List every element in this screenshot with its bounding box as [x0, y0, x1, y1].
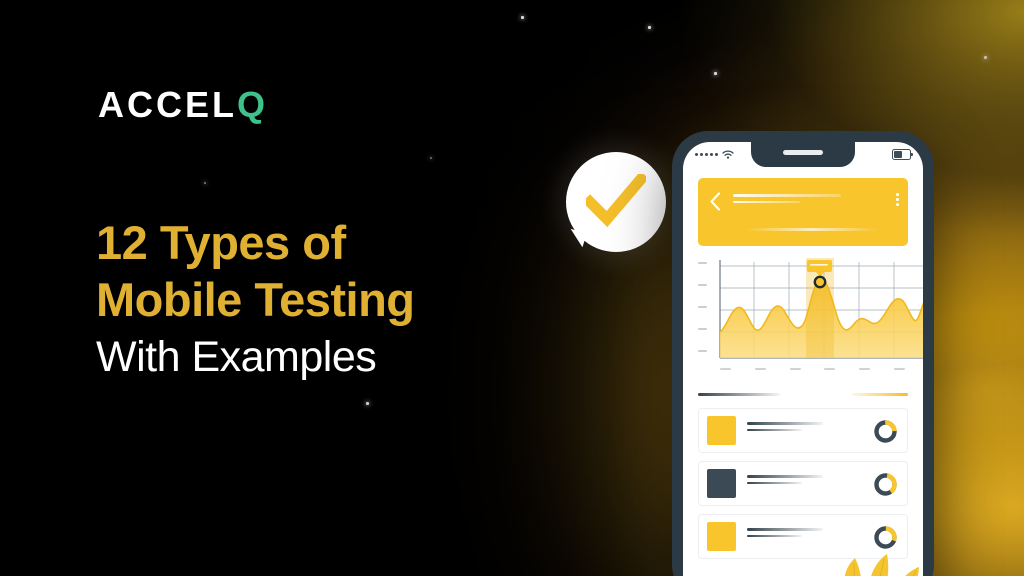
chart-x-axis-labels — [714, 368, 911, 370]
kebab-menu-icon[interactable] — [896, 193, 899, 206]
poster-canvas: ACCEL Q 12 Types of Mobile Testing With … — [0, 0, 1024, 576]
earpiece-speaker — [783, 150, 823, 155]
header-title-placeholder — [733, 194, 841, 207]
check-speech-bubble — [566, 152, 666, 252]
phone-mockup — [672, 131, 934, 576]
header-subtitle-placeholder — [746, 228, 878, 231]
list-item-thumbnail — [707, 522, 736, 551]
accelq-logo[interactable]: ACCEL Q — [98, 84, 266, 126]
section-header-row — [698, 392, 908, 400]
progress-ring-icon — [873, 472, 898, 497]
phone-notch — [751, 142, 855, 167]
chart-y-axis-labels — [698, 258, 712, 364]
list-item-thumbnail — [707, 416, 736, 445]
logo-wordmark: ACCEL — [98, 84, 237, 126]
chevron-left-icon[interactable] — [709, 192, 721, 211]
area-chart[interactable] — [714, 258, 923, 366]
progress-ring-icon — [873, 419, 898, 444]
section-title-placeholder — [698, 393, 780, 396]
headline-line-2: Mobile Testing — [96, 273, 616, 328]
signal-dots-icon — [695, 153, 718, 156]
data-point-marker-icon[interactable] — [815, 277, 825, 287]
chart-widget — [698, 258, 911, 390]
list-item-thumbnail — [707, 469, 736, 498]
list-item-text-placeholder — [747, 475, 823, 488]
list-item[interactable] — [698, 408, 908, 453]
battery-icon — [892, 149, 911, 160]
list-item[interactable] — [698, 461, 908, 506]
section-see-all-link[interactable] — [852, 393, 908, 396]
headline-line-3: With Examples — [96, 333, 616, 383]
app-header-card[interactable] — [698, 178, 908, 246]
list-item-text-placeholder — [747, 422, 823, 435]
wifi-icon — [722, 150, 734, 159]
phone-screen — [683, 142, 923, 576]
leaves-icon — [805, 527, 923, 576]
headline-line-1: 12 Types of — [96, 216, 616, 271]
check-mark-icon — [586, 174, 646, 230]
page-title: 12 Types of Mobile Testing With Examples — [96, 216, 616, 383]
logo-accent-letter: Q — [237, 84, 266, 126]
